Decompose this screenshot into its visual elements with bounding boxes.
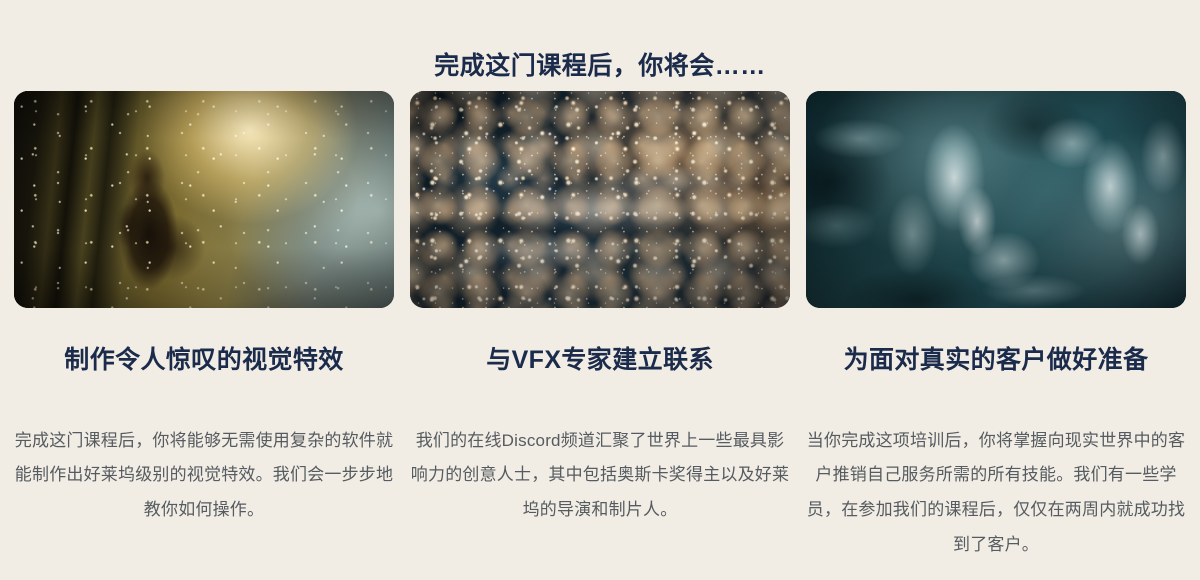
section-heading: 完成这门课程后，你将会…… [0,49,1200,84]
vfx-waterfall-figure-image [14,91,394,308]
benefit-card-1: 制作令人惊叹的视觉特效 完成这门课程后，你将能够无需使用复杂的软件就能制作出好莱… [14,91,394,545]
benefit-card-body: 我们的在线Discord频道汇聚了世界上一些最具影响力的创意人士，其中包括奥斯卡… [410,424,790,529]
benefit-cards-row: 制作令人惊叹的视觉特效 完成这门课程后，你将能够无需使用复杂的软件就能制作出好莱… [14,91,1186,580]
image-vignette-layer [410,91,790,308]
benefit-card-3: 为面对真实的客户做好准备 当你完成这项培训后，你将掌握向现实世界中的客户推销自己… [806,91,1186,580]
benefit-card-title: 与VFX专家建立联系 [410,344,790,377]
image-vignette-layer [14,91,394,308]
vfx-teal-smoke-image [806,91,1186,308]
benefit-card-2: 与VFX专家建立联系 我们的在线Discord频道汇聚了世界上一些最具影响力的创… [410,91,790,545]
benefits-section: 完成这门课程后，你将会…… 制作令人惊叹的视觉特效 完成这门课程后，你将能够无需… [0,0,1200,555]
benefit-card-body: 完成这门课程后，你将能够无需使用复杂的软件就能制作出好莱坞级别的视觉特效。我们会… [14,424,394,529]
image-vignette-layer [806,91,1186,308]
benefit-card-title: 为面对真实的客户做好准备 [806,344,1186,377]
benefit-card-body: 当你完成这项培训后，你将掌握向现实世界中的客户推销自己服务所需的所有技能。我们有… [806,424,1186,563]
benefit-card-title: 制作令人惊叹的视觉特效 [14,344,394,377]
vfx-sparks-particles-image [410,91,790,308]
